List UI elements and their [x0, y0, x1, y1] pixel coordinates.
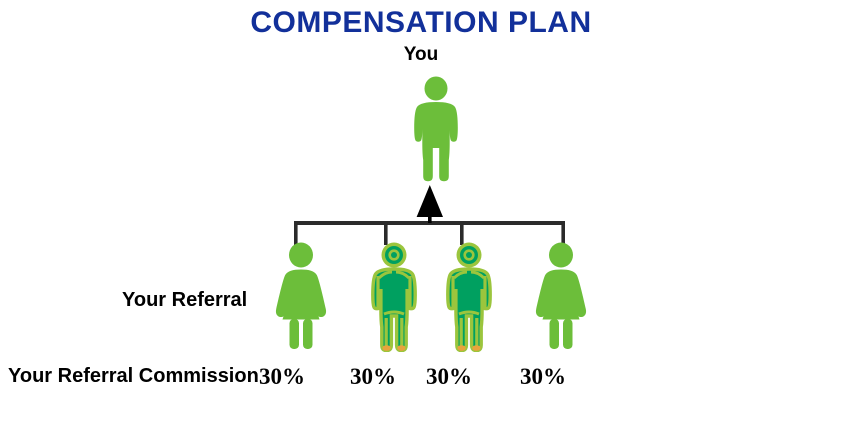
tree-connector: [280, 185, 580, 250]
referral-1-person-female-icon: [272, 242, 330, 350]
referral-4-commission-value: 30%: [513, 364, 573, 390]
compensation-plan-diagram: COMPENSATION PLAN You: [0, 0, 842, 421]
referral-2-commission-value: 30%: [343, 364, 403, 390]
referral-3-commission-value: 30%: [419, 364, 479, 390]
row-label-your-referral-commission: Your Referral Commission: [8, 365, 259, 388]
referral-4-person-female-icon: [532, 242, 590, 350]
row-label-your-referral: Your Referral: [122, 289, 247, 312]
page-title: COMPENSATION PLAN: [0, 6, 842, 40]
referral-3-person-male-outlined-icon: [440, 242, 498, 352]
referral-2-person-male-outlined-icon: [365, 242, 423, 352]
root-person-male-icon: [406, 76, 466, 182]
root-node-label: You: [0, 44, 842, 66]
referral-1-commission-value: 30%: [252, 364, 312, 390]
